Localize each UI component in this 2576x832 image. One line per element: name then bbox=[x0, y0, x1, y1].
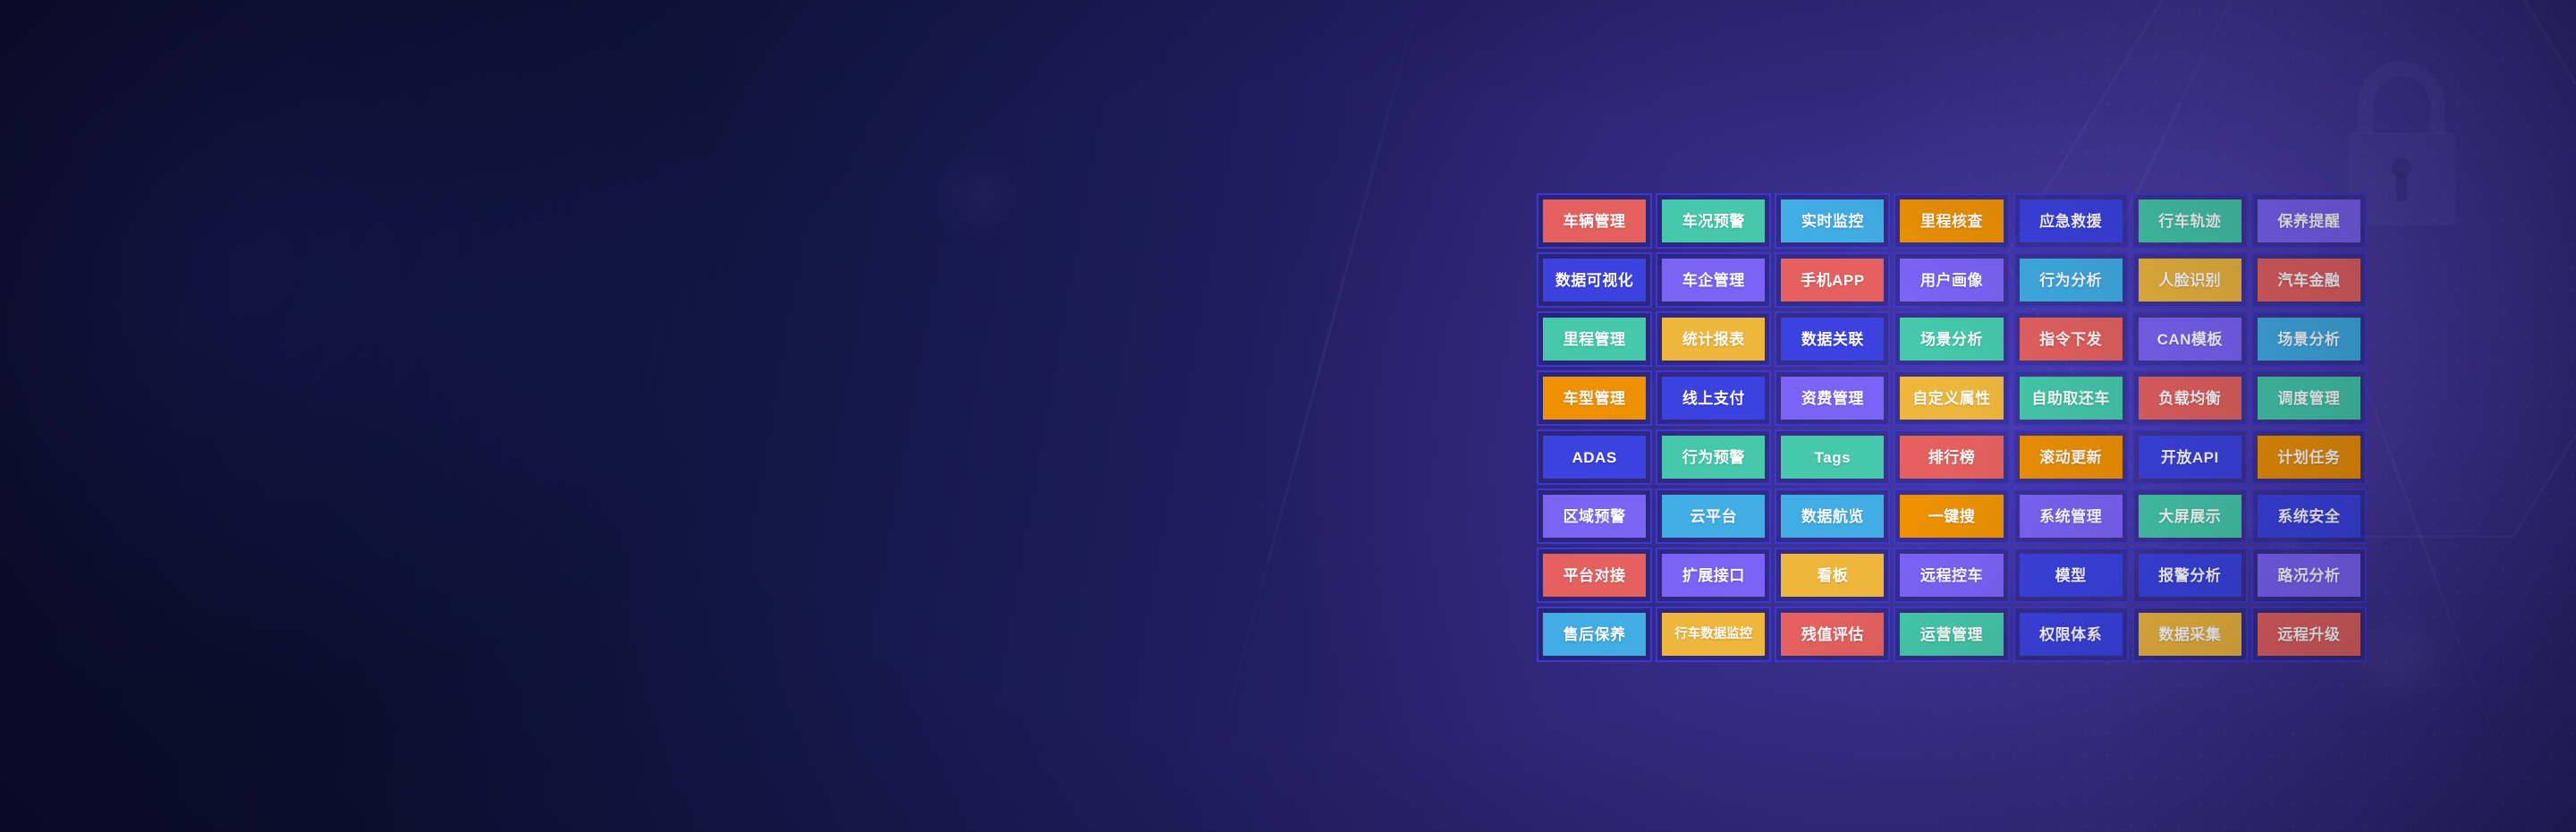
feature-tile-label: 计划任务 bbox=[2258, 436, 2360, 479]
feature-tile-label: ADAS bbox=[1543, 436, 1646, 479]
feature-tile-label: 负载均衡 bbox=[2139, 377, 2241, 420]
feature-tile-label: 权限体系 bbox=[2020, 613, 2123, 656]
feature-tile[interactable]: 报警分析 bbox=[2132, 548, 2248, 603]
feature-tile-label: 统计报表 bbox=[1662, 318, 1765, 361]
feature-tile[interactable]: 排行榜 bbox=[1894, 429, 2009, 485]
feature-tile[interactable]: Tags bbox=[1775, 429, 1890, 485]
feature-tile[interactable]: 实时监控 bbox=[1775, 193, 1890, 249]
feature-tile[interactable]: 指令下发 bbox=[2013, 311, 2129, 367]
feature-tile[interactable]: 云平台 bbox=[1656, 488, 1771, 544]
feature-tile-label: 车企管理 bbox=[1662, 259, 1765, 301]
feature-tile[interactable]: 负载均衡 bbox=[2132, 370, 2248, 426]
feature-tile[interactable]: 数据采集 bbox=[2132, 607, 2248, 662]
feature-tile-label: 模型 bbox=[2020, 554, 2123, 597]
feature-tile-label: 保养提醒 bbox=[2258, 200, 2360, 242]
feature-tile-label: 路况分析 bbox=[2258, 554, 2360, 597]
feature-tile[interactable]: 行车轨迹 bbox=[2132, 193, 2248, 249]
feature-tile[interactable]: 残值评估 bbox=[1775, 607, 1890, 662]
feature-tile-label: 远程控车 bbox=[1900, 554, 2003, 597]
feature-tile[interactable]: 路况分析 bbox=[2251, 548, 2367, 603]
feature-tile[interactable]: 自助取还车 bbox=[2013, 370, 2129, 426]
feature-tile[interactable]: 系统安全 bbox=[2251, 488, 2367, 544]
feature-tile-label: 开放API bbox=[2139, 436, 2241, 479]
feature-tile[interactable]: 手机APP bbox=[1775, 252, 1890, 308]
feature-tile[interactable]: 售后保养 bbox=[1537, 607, 1652, 662]
feature-tile[interactable]: 调度管理 bbox=[2251, 370, 2367, 426]
feature-tile-label: 车型管理 bbox=[1543, 377, 1646, 420]
feature-tile-label: 里程管理 bbox=[1543, 318, 1646, 361]
feature-tile[interactable]: 计划任务 bbox=[2251, 429, 2367, 485]
feature-tile-label: 运营管理 bbox=[1900, 613, 2003, 656]
feature-tile-label: 云平台 bbox=[1662, 495, 1765, 538]
feature-tile[interactable]: 数据关联 bbox=[1775, 311, 1890, 367]
feature-tile[interactable]: 车企管理 bbox=[1656, 252, 1771, 308]
feature-tile-row: ADAS行为预警Tags排行榜滚动更新开放API计划任务 bbox=[1537, 429, 2367, 485]
feature-tile[interactable]: 统计报表 bbox=[1656, 311, 1771, 367]
feature-tile[interactable]: 行车数据监控 bbox=[1656, 607, 1771, 662]
feature-tile[interactable]: 开放API bbox=[2132, 429, 2248, 485]
feature-tile-label: 车辆管理 bbox=[1543, 200, 1646, 242]
feature-tile[interactable]: 远程控车 bbox=[1894, 548, 2009, 603]
feature-tile-label: 手机APP bbox=[1781, 259, 1884, 301]
feature-tile[interactable]: 数据可视化 bbox=[1537, 252, 1652, 308]
feature-tile-grid: 车辆管理车况预警实时监控里程核查应急救援行车轨迹保养提醒数据可视化车企管理手机A… bbox=[1537, 193, 2367, 662]
feature-tile-row: 售后保养行车数据监控残值评估运营管理权限体系数据采集远程升级 bbox=[1537, 607, 2367, 662]
feature-tile[interactable]: 里程管理 bbox=[1537, 311, 1652, 367]
feature-tile-label: 远程升级 bbox=[2258, 613, 2360, 656]
feature-tile-label: 大屏展示 bbox=[2139, 495, 2241, 538]
feature-tile-row: 数据可视化车企管理手机APP用户画像行为分析人脸识别汽车金融 bbox=[1537, 252, 2367, 308]
feature-tile-label: 人脸识别 bbox=[2139, 259, 2241, 301]
feature-tile[interactable]: 看板 bbox=[1775, 548, 1890, 603]
screen-root: 车辆管理车况预警实时监控里程核查应急救援行车轨迹保养提醒数据可视化车企管理手机A… bbox=[0, 0, 2576, 832]
feature-tile[interactable]: 系统管理 bbox=[2013, 488, 2129, 544]
feature-tile[interactable]: 保养提醒 bbox=[2251, 193, 2367, 249]
feature-tile[interactable]: 里程核查 bbox=[1894, 193, 2009, 249]
feature-tile-label: 行为预警 bbox=[1662, 436, 1765, 479]
feature-tile[interactable]: 线上支付 bbox=[1656, 370, 1771, 426]
feature-tile-label: 看板 bbox=[1781, 554, 1884, 597]
feature-tile-label: 场景分析 bbox=[1900, 318, 2003, 361]
feature-tile-label: 系统管理 bbox=[2020, 495, 2123, 538]
feature-tile[interactable]: 一键搜 bbox=[1894, 488, 2009, 544]
feature-tile[interactable]: 扩展接口 bbox=[1656, 548, 1771, 603]
feature-tile[interactable]: 行为预警 bbox=[1656, 429, 1771, 485]
feature-tile[interactable]: 资费管理 bbox=[1775, 370, 1890, 426]
feature-tile[interactable]: 行为分析 bbox=[2013, 252, 2129, 308]
feature-tile[interactable]: 用户画像 bbox=[1894, 252, 2009, 308]
feature-tile-label: 区域预警 bbox=[1543, 495, 1646, 538]
background-blob-a bbox=[2360, 626, 2440, 689]
feature-tile-label: 里程核查 bbox=[1900, 200, 2003, 242]
feature-tile-label: 用户画像 bbox=[1900, 259, 2003, 301]
feature-tile-row: 车辆管理车况预警实时监控里程核查应急救援行车轨迹保养提醒 bbox=[1537, 193, 2367, 249]
feature-tile-label: 残值评估 bbox=[1781, 613, 1884, 656]
feature-tile[interactable]: 场景分析 bbox=[2251, 311, 2367, 367]
feature-tile[interactable]: 权限体系 bbox=[2013, 607, 2129, 662]
feature-tile[interactable]: 大屏展示 bbox=[2132, 488, 2248, 544]
feature-tile[interactable]: 滚动更新 bbox=[2013, 429, 2129, 485]
feature-tile[interactable]: 远程升级 bbox=[2251, 607, 2367, 662]
feature-tile-label: 一键搜 bbox=[1900, 495, 2003, 538]
feature-tile-label: 排行榜 bbox=[1900, 436, 2003, 479]
feature-tile-row: 平台对接扩展接口看板远程控车模型报警分析路况分析 bbox=[1537, 548, 2367, 603]
feature-tile-label: 行为分析 bbox=[2020, 259, 2123, 301]
feature-tile[interactable]: 模型 bbox=[2013, 548, 2129, 603]
feature-tile-label: 数据关联 bbox=[1781, 318, 1884, 361]
feature-tile[interactable]: 汽车金融 bbox=[2251, 252, 2367, 308]
feature-tile-label: 应急救援 bbox=[2020, 200, 2123, 242]
feature-tile-label: 线上支付 bbox=[1662, 377, 1765, 420]
feature-tile-label: 场景分析 bbox=[2258, 318, 2360, 361]
feature-tile-label: 滚动更新 bbox=[2020, 436, 2123, 479]
feature-tile[interactable]: 数据航览 bbox=[1775, 488, 1890, 544]
feature-tile[interactable]: 车辆管理 bbox=[1537, 193, 1652, 249]
feature-tile-label: Tags bbox=[1781, 436, 1884, 479]
feature-tile-label: 自助取还车 bbox=[2020, 377, 2123, 420]
feature-tile-label: 售后保养 bbox=[1543, 613, 1646, 656]
background-blob-b bbox=[948, 170, 1011, 224]
background-glow-left bbox=[0, 0, 733, 716]
feature-tile[interactable]: 应急救援 bbox=[2013, 193, 2129, 249]
feature-tile[interactable]: ADAS bbox=[1537, 429, 1652, 485]
feature-tile-label: 数据采集 bbox=[2139, 613, 2241, 656]
feature-tile-label: 指令下发 bbox=[2020, 318, 2123, 361]
feature-tile-label: 数据可视化 bbox=[1543, 259, 1646, 301]
feature-tile[interactable]: 场景分析 bbox=[1894, 311, 2009, 367]
feature-tile[interactable]: 车型管理 bbox=[1537, 370, 1652, 426]
feature-tile-label: 数据航览 bbox=[1781, 495, 1884, 538]
feature-tile-label: 行车轨迹 bbox=[2139, 200, 2241, 242]
feature-tile-row: 车型管理线上支付资费管理自定义属性自助取还车负载均衡调度管理 bbox=[1537, 370, 2367, 426]
feature-tile[interactable]: 平台对接 bbox=[1537, 548, 1652, 603]
feature-tile-label: 实时监控 bbox=[1781, 200, 1884, 242]
feature-tile[interactable]: 人脸识别 bbox=[2132, 252, 2248, 308]
feature-tile-label: 汽车金融 bbox=[2258, 259, 2360, 301]
feature-tile-label: 行车数据监控 bbox=[1662, 613, 1765, 656]
feature-tile-label: 平台对接 bbox=[1543, 554, 1646, 597]
feature-tile[interactable]: 车况预警 bbox=[1656, 193, 1771, 249]
feature-tile-label: 扩展接口 bbox=[1662, 554, 1765, 597]
feature-tile-row: 里程管理统计报表数据关联场景分析指令下发CAN模板场景分析 bbox=[1537, 311, 2367, 367]
feature-tile-label: 报警分析 bbox=[2139, 554, 2241, 597]
feature-tile-row: 区域预警云平台数据航览一键搜系统管理大屏展示系统安全 bbox=[1537, 488, 2367, 544]
feature-tile-label: 调度管理 bbox=[2258, 377, 2360, 420]
feature-tile-label: CAN模板 bbox=[2139, 318, 2241, 361]
feature-tile[interactable]: 运营管理 bbox=[1894, 607, 2009, 662]
feature-tile[interactable]: 区域预警 bbox=[1537, 488, 1652, 544]
feature-tile-label: 车况预警 bbox=[1662, 200, 1765, 242]
feature-tile[interactable]: 自定义属性 bbox=[1894, 370, 2009, 426]
feature-tile-label: 系统安全 bbox=[2258, 495, 2360, 538]
feature-tile[interactable]: CAN模板 bbox=[2132, 311, 2248, 367]
feature-tile-label: 自定义属性 bbox=[1900, 377, 2003, 420]
feature-tile-label: 资费管理 bbox=[1781, 377, 1884, 420]
